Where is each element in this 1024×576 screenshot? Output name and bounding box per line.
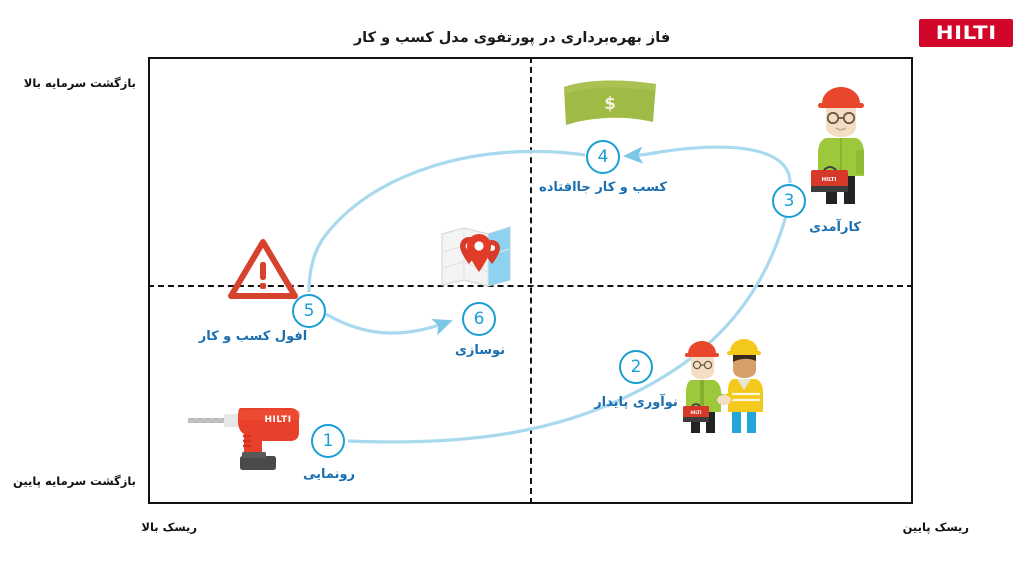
step-label-3: کارآمدی — [760, 220, 910, 235]
money-symbol: $ — [604, 94, 616, 114]
money-bill-icon: $ — [560, 75, 660, 131]
step-marker-6[interactable]: 6 — [462, 302, 496, 336]
axis-label-roi-low: بازگشت سرمایه پایین — [13, 474, 136, 488]
step-marker-1[interactable]: 1 — [311, 424, 345, 458]
axis-label-roi-high: بازگشت سرمایه بالا — [24, 76, 136, 90]
step-label-2: نوآوری پایدار — [561, 395, 711, 410]
handshake-workers-icon: HILTI — [680, 334, 768, 434]
step-label-5: افول کسب و کار — [123, 329, 383, 344]
worker-with-toolcase-icon: HILTI — [806, 82, 876, 206]
handshake-toolcase-wordmark: HILTI — [691, 410, 702, 415]
step-label-4: کسب و کار جاافتاده — [528, 180, 678, 195]
step-label-1: رونمایی — [254, 467, 404, 482]
page-title: فاز بهره‌برداری در پورتفوی مدل کسب و کار — [0, 30, 1024, 46]
drill-wordmark: HILTI — [264, 415, 291, 425]
step-marker-4[interactable]: 4 — [586, 140, 620, 174]
hilti-drill-icon: HILTI — [186, 394, 311, 474]
warning-triangle-icon — [228, 238, 298, 300]
quadrant-divider-vertical — [530, 57, 532, 504]
axis-label-risk-high: ریسک بالا — [141, 520, 197, 534]
slide-canvas: HILTI فاز بهره‌برداری در پورتفوی مدل کسب… — [0, 0, 1024, 576]
step-marker-5[interactable]: 5 — [292, 294, 326, 328]
step-marker-2[interactable]: 2 — [619, 350, 653, 384]
map-pins-icon — [438, 222, 514, 290]
step-marker-3[interactable]: 3 — [772, 184, 806, 218]
toolcase-wordmark: HILTI — [822, 177, 837, 183]
axis-label-risk-low: ریسک پایین — [903, 520, 969, 534]
step-label-6: نوسازی — [405, 343, 555, 358]
